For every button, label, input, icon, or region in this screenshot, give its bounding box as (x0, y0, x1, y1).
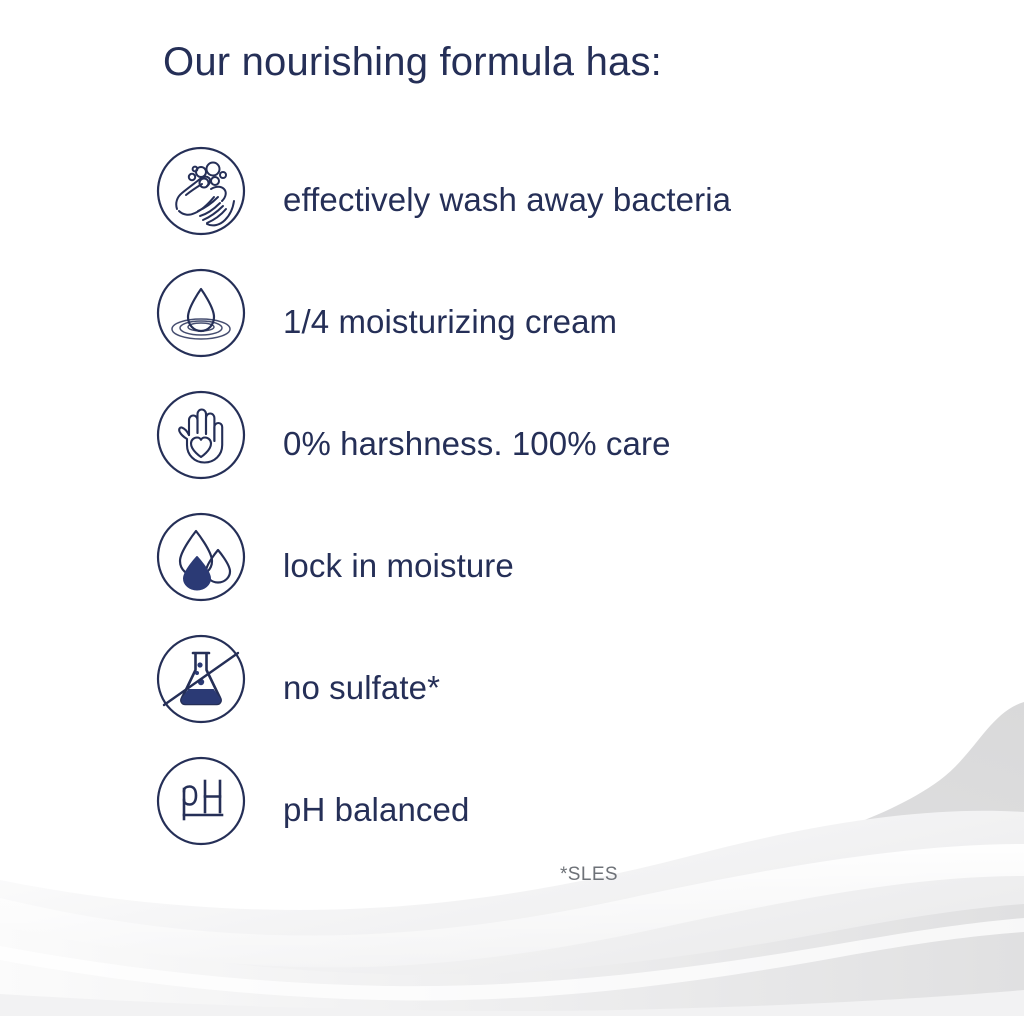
benefit-row-no-sulfate: no sulfate* (0, 627, 1024, 749)
benefit-row-ph-balanced: pH balanced (0, 749, 1024, 871)
benefit-label: no sulfate* (283, 669, 440, 707)
benefit-label: pH balanced (283, 791, 469, 829)
no-flask-icon (155, 633, 247, 725)
benefit-label: effectively wash away bacteria (283, 181, 731, 219)
footnote-sles: *SLES (560, 864, 618, 886)
ph-balanced-icon (155, 755, 247, 847)
hand-heart-icon (155, 389, 247, 481)
page-title: Our nourishing formula has: (163, 40, 662, 85)
benefit-row-moisturizing-cream: 1/4 moisturizing cream (0, 261, 1024, 383)
benefit-label: 0% harshness. 100% care (283, 425, 671, 463)
water-droplet-ripple-icon (155, 267, 247, 359)
three-droplets-icon (155, 511, 247, 603)
product-benefits-infographic: Our nourishing formula has: (0, 0, 1024, 1024)
benefit-label: 1/4 moisturizing cream (283, 303, 617, 341)
benefit-row-wash-away-bacteria: effectively wash away bacteria (0, 139, 1024, 261)
benefit-label: lock in moisture (283, 547, 514, 585)
benefits-list: effectively wash away bacteria 1/4 moist… (0, 139, 1024, 871)
washing-hands-icon (155, 145, 247, 237)
benefit-row-zero-harshness: 0% harshness. 100% care (0, 383, 1024, 505)
benefit-row-lock-in-moisture: lock in moisture (0, 505, 1024, 627)
